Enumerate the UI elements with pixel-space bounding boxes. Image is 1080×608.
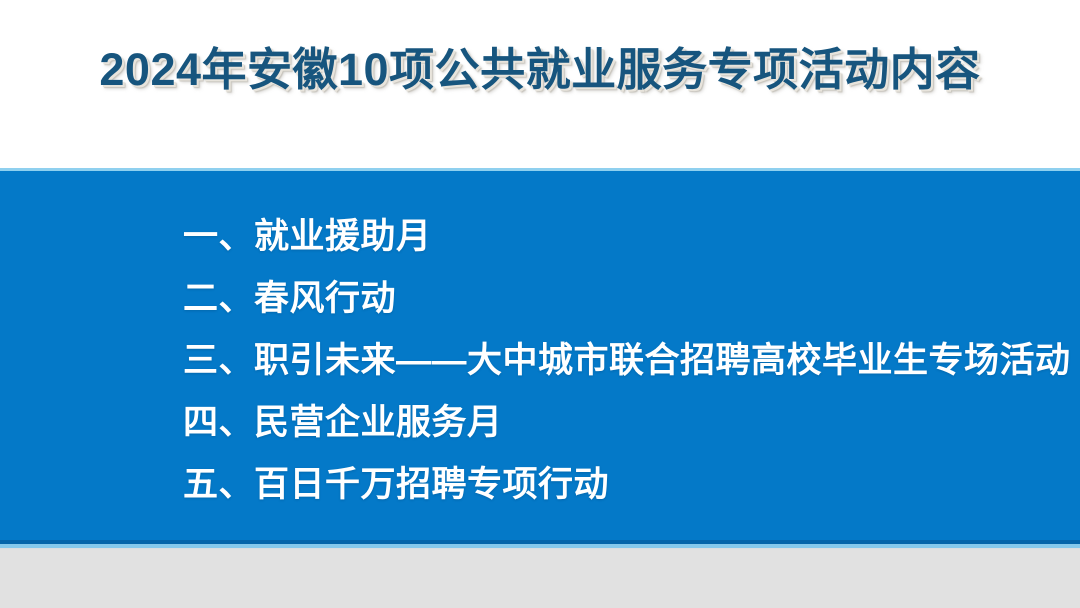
list-item: 四、 民营企业服务月 bbox=[183, 391, 1080, 453]
list-item: 五、 百日千万招聘专项行动 bbox=[183, 453, 1080, 515]
list-item: 三、 职引未来——大中城市联合招聘高校毕业生专场活动 bbox=[183, 329, 1080, 391]
bottom-band bbox=[0, 548, 1080, 608]
list-item: 一、 就业援助月 bbox=[183, 205, 1080, 267]
list-item-marker: 一、 bbox=[183, 219, 254, 254]
page-title: 2024年安徽10项公共就业服务专项活动内容 bbox=[79, 46, 1000, 93]
list-item-label: 职引未来——大中城市联合招聘高校毕业生专场活动 bbox=[254, 343, 1071, 378]
activity-list: 一、 就业援助月 二、 春风行动 三、 职引未来——大中城市联合招聘高校毕业生专… bbox=[0, 205, 1080, 515]
list-item-label: 春风行动 bbox=[254, 281, 396, 316]
list-item-marker: 五、 bbox=[183, 467, 254, 502]
list-item-label: 就业援助月 bbox=[254, 219, 432, 254]
content-panel: 一、 就业援助月 二、 春风行动 三、 职引未来——大中城市联合招聘高校毕业生专… bbox=[0, 171, 1080, 540]
list-item: 二、 春风行动 bbox=[183, 267, 1080, 329]
list-item-marker: 四、 bbox=[183, 405, 254, 440]
list-item-label: 民营企业服务月 bbox=[254, 405, 503, 440]
list-item-marker: 二、 bbox=[183, 281, 254, 316]
slide-root: 2024年安徽10项公共就业服务专项活动内容 一、 就业援助月 二、 春风行动 … bbox=[0, 0, 1080, 608]
title-band: 2024年安徽10项公共就业服务专项活动内容 bbox=[0, 0, 1080, 168]
list-item-label: 百日千万招聘专项行动 bbox=[254, 467, 609, 502]
list-item-marker: 三、 bbox=[183, 343, 254, 378]
